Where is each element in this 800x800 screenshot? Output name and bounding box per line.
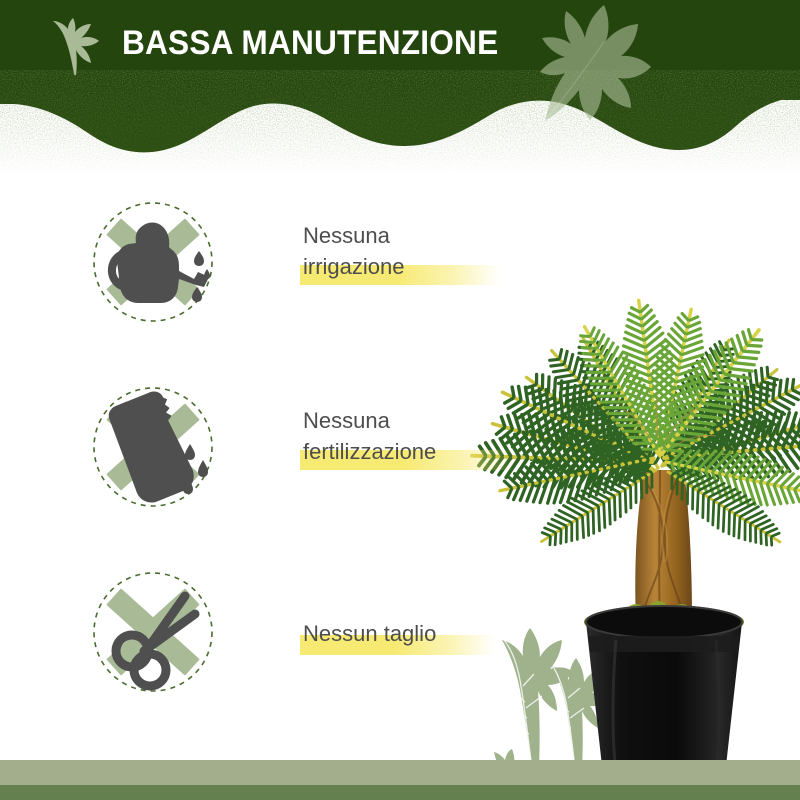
bottom-bar-dark (0, 785, 800, 800)
monstera-leaf-large-icon (505, 0, 655, 123)
fertilizer-bag-icon (78, 372, 228, 522)
feature-label-no-fertilizing: Nessuna fertilizzazione (303, 405, 436, 467)
black-plastic-pot (586, 606, 742, 785)
product-feature-infographic: BASSA MANUTENZIONE Nessuna irrigazione (0, 0, 800, 800)
monstera-leaf-small-icon (48, 18, 100, 76)
bottom-bar-light (0, 760, 800, 785)
page-title: BASSA MANUTENZIONE (122, 24, 498, 63)
watering-can-icon (78, 187, 228, 337)
artificial-cycad-sago-palm-in-black-pot (430, 170, 800, 790)
feature-label-no-pruning: Nessun taglio (303, 618, 436, 649)
scissors-icon (78, 557, 228, 707)
feature-label-no-watering: Nessuna irrigazione (303, 220, 405, 282)
header-banner: BASSA MANUTENZIONE (0, 0, 800, 175)
